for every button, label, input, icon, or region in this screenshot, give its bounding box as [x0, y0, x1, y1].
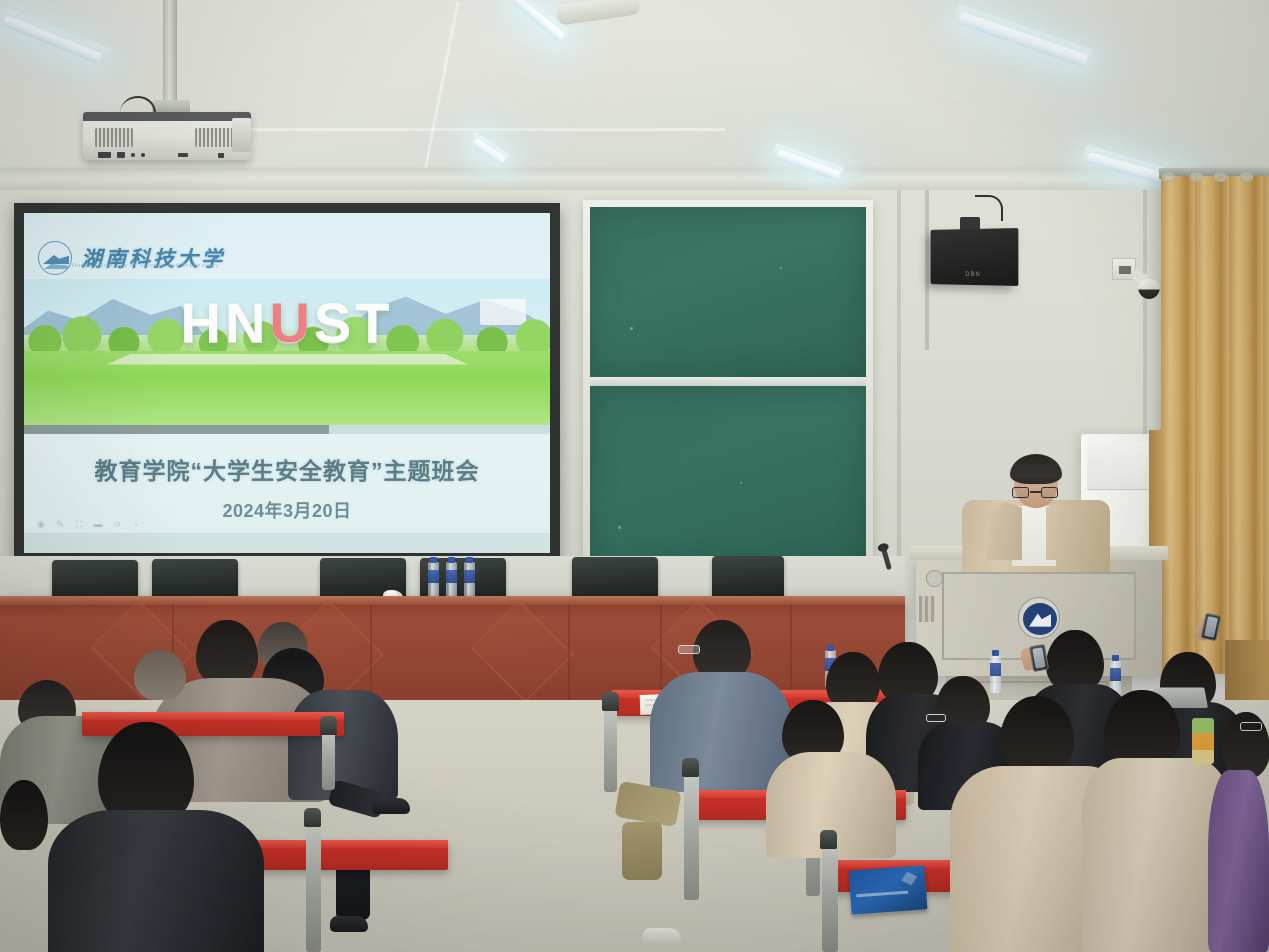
projection-screen[interactable]: 湖南科技大学 Hunan University of Science and T…: [14, 203, 560, 563]
presenter-glasses-icon: [1012, 487, 1059, 498]
presentation-toolbar[interactable]: ◉ ✎ ⛶ ▬ ⊙ ›: [36, 519, 141, 529]
projector-vent: [95, 128, 133, 147]
wall-panel-seam: [897, 190, 901, 560]
audience-glasses-icon: [1240, 722, 1262, 731]
audience-person: [1046, 630, 1104, 692]
audience-glasses-icon: [926, 714, 946, 722]
projector-port: [98, 152, 111, 158]
curtain-grommet-icon: [1214, 172, 1227, 182]
more-options-icon[interactable]: ⊙: [112, 519, 122, 529]
desk-leg: [604, 700, 617, 792]
desk-frame-cap: [682, 758, 699, 777]
campus-plaza: [106, 354, 468, 365]
expand-icon[interactable]: ⛶: [74, 519, 84, 529]
window-curtain[interactable]: [1161, 176, 1269, 674]
podium-small-emblem-icon: [926, 570, 943, 587]
audience-shoe: [330, 916, 368, 932]
audience-person: [1000, 696, 1074, 774]
snack-bag[interactable]: [1192, 718, 1214, 764]
audience-person-torso: [48, 810, 264, 952]
campus-sign-letters: HNUST: [24, 295, 550, 351]
chalkboard-rail: [590, 377, 866, 386]
university-name-en: Hunan University of Science and Technolo…: [72, 263, 219, 269]
water-bottle[interactable]: [990, 655, 1001, 693]
desk-leg: [822, 840, 838, 952]
blue-textbook[interactable]: [849, 865, 928, 914]
chalkboard[interactable]: [583, 200, 873, 575]
curtain-grommet-icon: [1190, 172, 1203, 182]
speaker-brand-label: DBN: [965, 272, 980, 278]
projector-indicator: [141, 153, 145, 157]
projector-port: [178, 153, 188, 157]
slide-footer-band: [24, 533, 550, 553]
campus-sign-prefix: HN: [181, 291, 270, 354]
desk-leg: [684, 768, 699, 900]
wall-panel-seam: [1143, 190, 1147, 440]
audience-shoe: [643, 928, 681, 944]
podium-vent: [919, 596, 935, 622]
water-bottle[interactable]: [464, 562, 475, 600]
stage-chair[interactable]: [712, 556, 784, 598]
audience-person: [196, 620, 258, 686]
slide-university-logo: 湖南科技大学: [38, 235, 225, 281]
projector-port: [117, 152, 125, 158]
chalkboard-upper-panel[interactable]: [590, 207, 866, 377]
audience-person-torso: [650, 672, 792, 792]
projector-vent: [195, 128, 233, 147]
slide-divider: [24, 425, 550, 434]
curtain-grommet-icon: [1240, 172, 1253, 182]
desk-frame-cap: [820, 830, 837, 849]
audience-glasses-icon: [678, 645, 700, 654]
projector-port: [218, 153, 224, 158]
slides-icon[interactable]: ▬: [93, 519, 103, 529]
water-bottle[interactable]: [428, 562, 439, 600]
pen-icon[interactable]: ✎: [55, 519, 65, 529]
pointer-icon[interactable]: ◉: [36, 519, 46, 529]
campus-sign-accent: U: [269, 291, 313, 354]
desk-frame-cap: [602, 692, 619, 711]
campus-sign-suffix: ST: [314, 291, 394, 354]
wall-speaker: DBN: [931, 228, 1019, 286]
desk-frame-cap: [320, 716, 337, 735]
water-bottle[interactable]: [446, 562, 457, 600]
audience-person: [693, 620, 751, 680]
projector-mount-pole: [163, 0, 177, 108]
university-emblem-icon: [38, 241, 72, 275]
audience-leg: [622, 822, 662, 880]
chalkboard-lower-panel[interactable]: [590, 386, 866, 568]
desk-frame-cap: [304, 808, 321, 827]
curtain-grommet-icon: [1162, 172, 1175, 182]
audience-person-torso: [1208, 770, 1269, 952]
ceiling-projector[interactable]: [83, 112, 251, 160]
stage-chair[interactable]: [152, 559, 238, 601]
projector-top-shell: [83, 112, 251, 121]
projector-lens: [232, 118, 251, 152]
desk-leg: [306, 818, 321, 952]
presentation-slide[interactable]: 湖南科技大学 Hunan University of Science and T…: [24, 213, 550, 553]
projector-indicator: [131, 153, 135, 157]
classroom-scene: 湖南科技大学 Hunan University of Science and T…: [0, 0, 1269, 952]
slide-title: 教育学院“大学生安全教育”主题班会: [24, 452, 550, 486]
campus-photo: HNUST: [24, 279, 550, 427]
next-slide-icon[interactable]: ›: [131, 519, 141, 529]
audience-shoe: [372, 798, 410, 814]
audience-person: [0, 780, 48, 850]
audience-person: [134, 650, 186, 700]
wall-conduit: [925, 190, 929, 350]
stage-chair[interactable]: [572, 557, 658, 599]
